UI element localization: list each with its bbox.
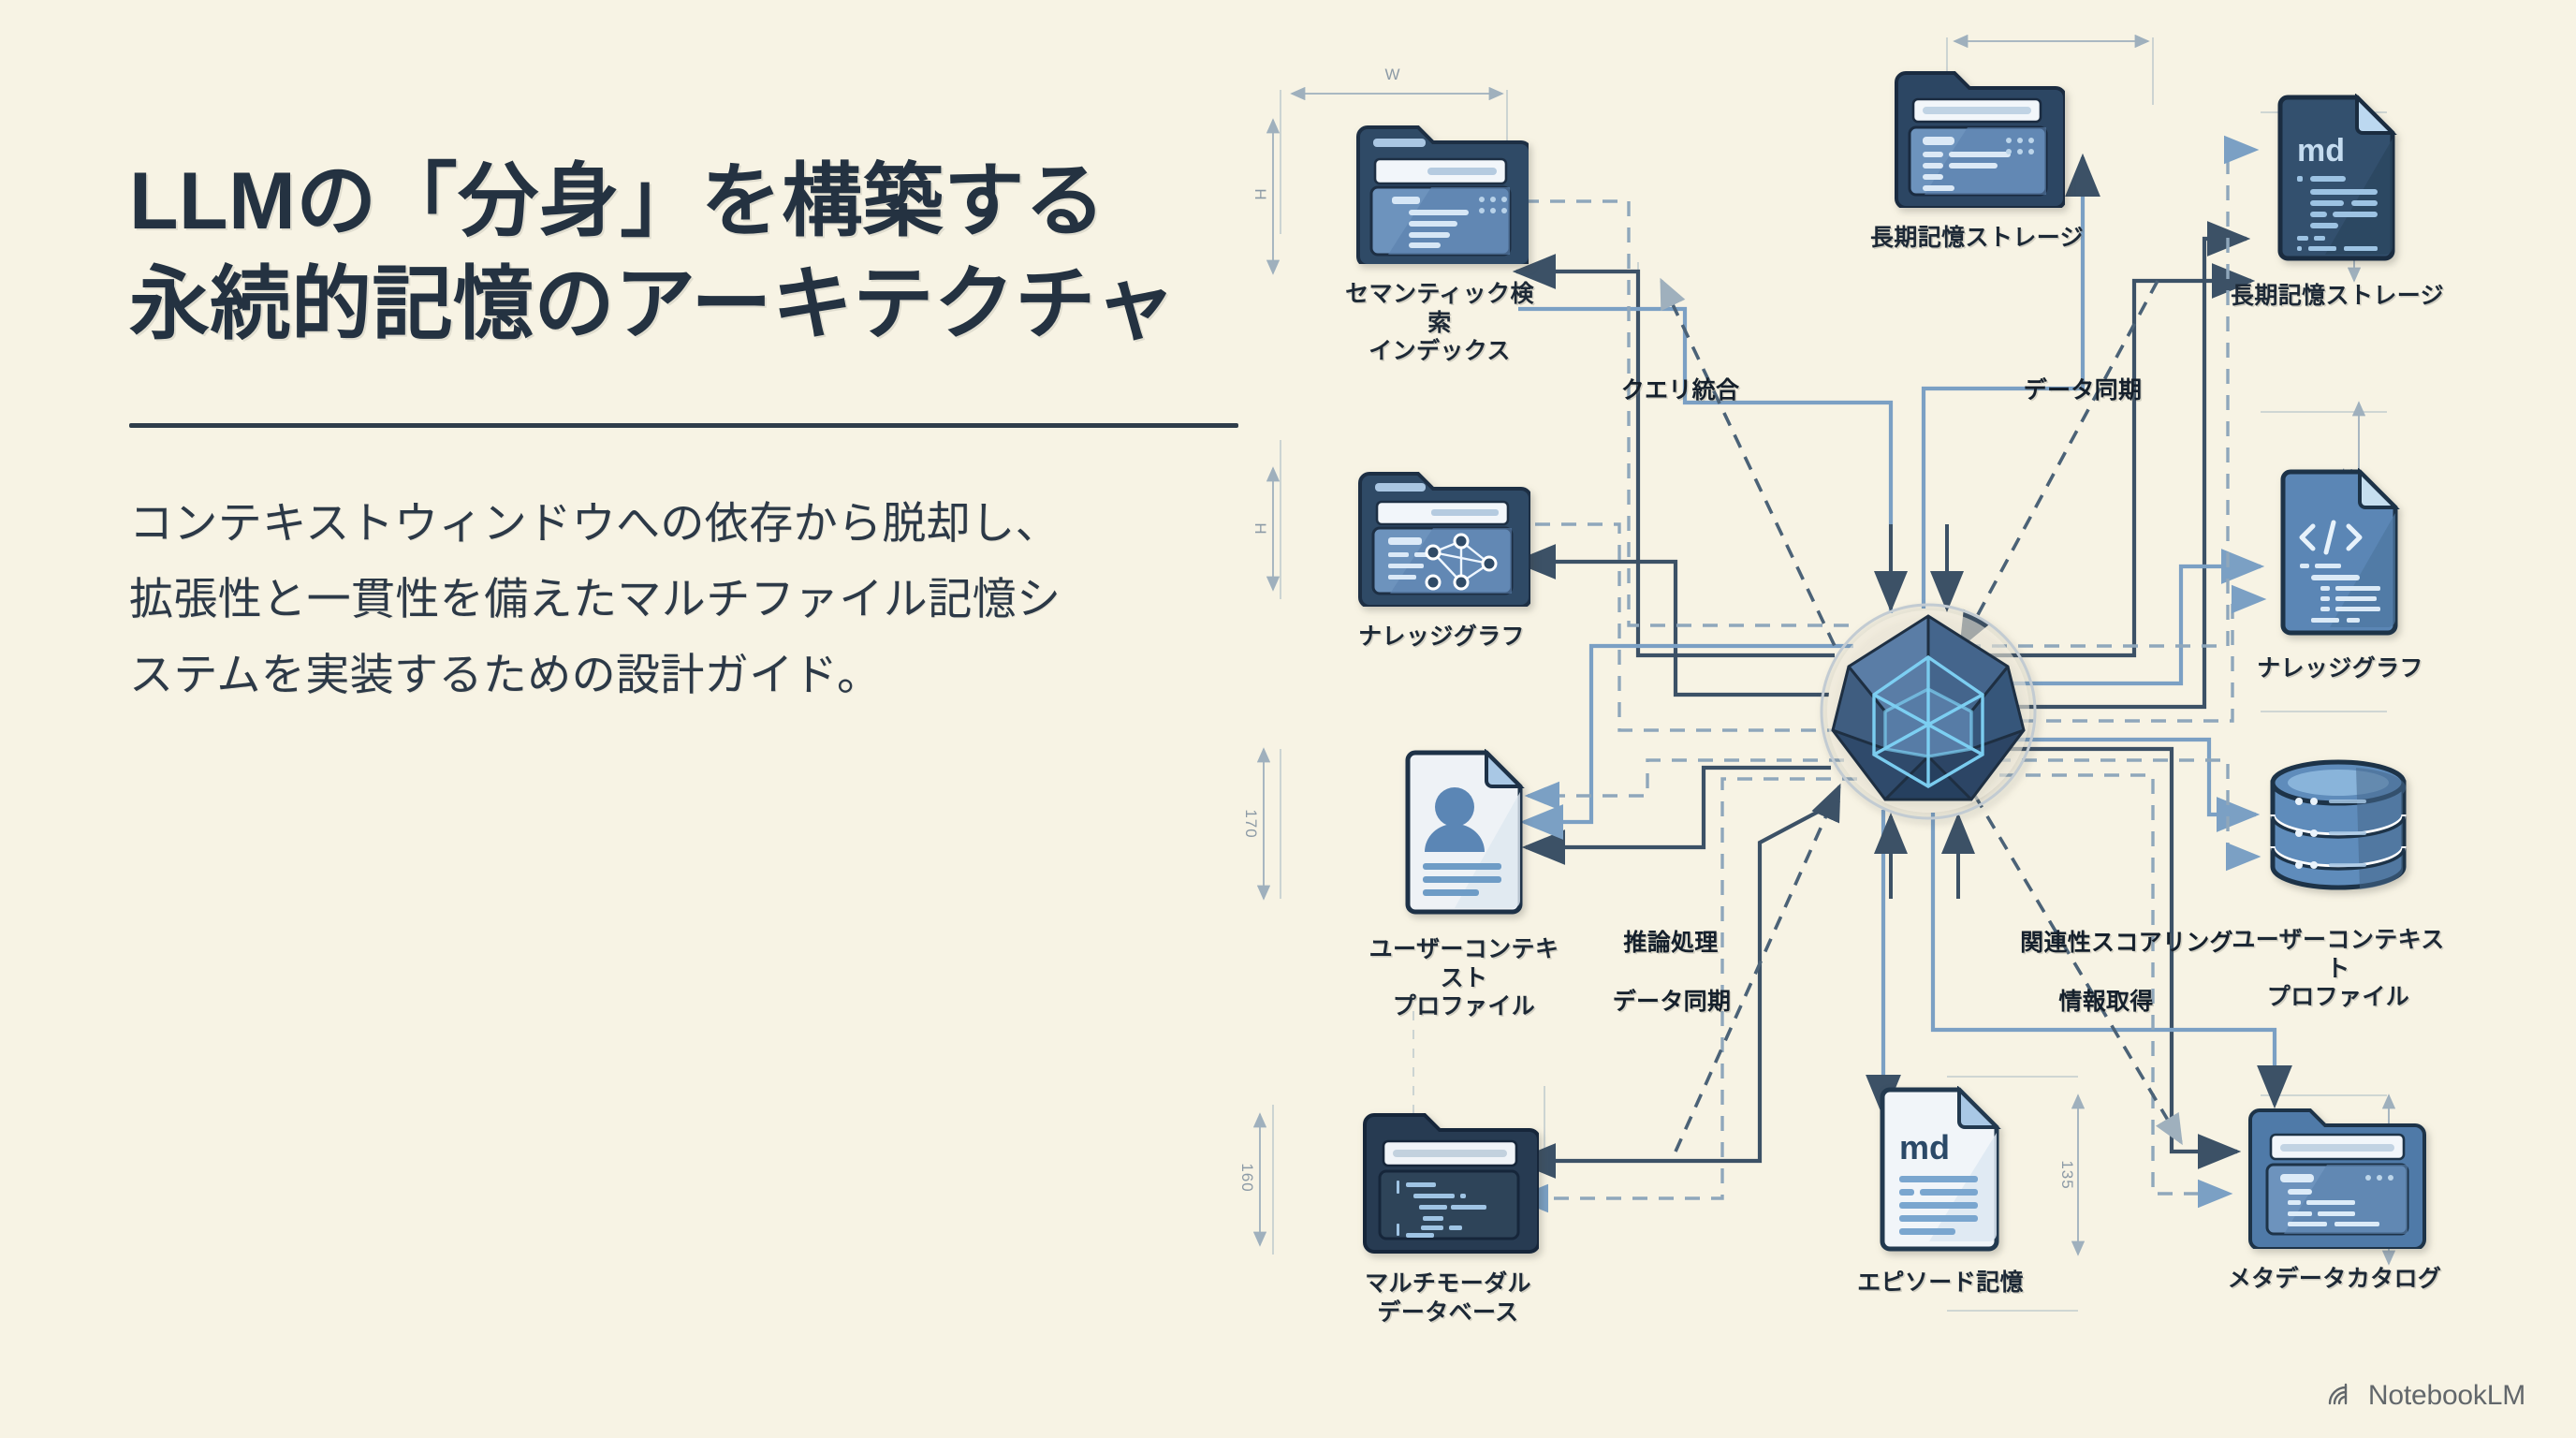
- slide-canvas: LLMの「分身」を構築する 永続的記憶のアーキテクチャ コンテキストウィンドウへ…: [0, 0, 2576, 1438]
- code-file-icon: [2276, 468, 2405, 643]
- node-long-term-storage-folder[interactable]: 長期記憶ストレージ: [1865, 58, 2089, 253]
- node-multimodal-database[interactable]: マルチモーダル データベース: [1340, 1100, 1556, 1327]
- dim-label-170: 170: [1241, 809, 1260, 838]
- watermark-label: NotebookLM: [2368, 1380, 2525, 1412]
- edge-label-query-integration: クエリ統合: [1621, 372, 1740, 405]
- node-metadata-catalog[interactable]: メタデータカタログ: [2220, 1093, 2449, 1294]
- node-long-term-storage-md[interactable]: md: [2230, 94, 2445, 311]
- node-label: エピソード記憶: [1857, 1269, 2024, 1298]
- dim-label-w: W: [1384, 66, 1400, 84]
- dim-label-135: 135: [2057, 1160, 2076, 1189]
- edge-label-relevance-scoring: 関連性スコアリング: [2020, 924, 2233, 958]
- dim-label-160a: 160: [1237, 1163, 1256, 1192]
- architecture-diagram: W H H 170 160 148 160 135 180: [1236, 0, 2576, 1438]
- node-label: ナレッジグラフ: [2257, 654, 2423, 683]
- node-label: ユーザーコンテキスト プロファイル: [2226, 926, 2451, 1012]
- md-file-dark-icon: md: [2273, 94, 2402, 271]
- folder-dark-code-icon: [1357, 1100, 1539, 1258]
- svg-text:md: md: [1899, 1128, 1950, 1167]
- person-document-icon: [1398, 749, 1529, 924]
- node-label: 長期記憶ストレージ: [1870, 224, 2084, 253]
- folder-lines-icon: [2243, 1093, 2426, 1254]
- node-user-context-database[interactable]: ユーザーコンテキスト プロファイル: [2226, 749, 2451, 1012]
- node-label: ナレッジグラフ: [1358, 623, 1525, 652]
- edge-label-data-sync-top: データ同期: [2024, 372, 2143, 405]
- node-label: セマンティック検索 インデックス: [1337, 280, 1543, 366]
- title-divider: [129, 423, 1238, 428]
- edge-label-information-retrieval: 情報取得: [2058, 983, 2153, 1017]
- node-label: マルチモーダル データベース: [1365, 1269, 1531, 1327]
- edge-label-data-sync-bottom: データ同期: [1613, 983, 1732, 1017]
- page-title: LLMの「分身」を構築する 永続的記憶のアーキテクチャ: [129, 150, 1281, 356]
- hero-text-panel: LLMの「分身」を構築する 永続的記憶のアーキテクチャ コンテキストウィンドウへ…: [129, 150, 1281, 713]
- database-icon: [2258, 749, 2419, 915]
- edge-label-inference-process: 推論処理: [1623, 924, 1718, 958]
- folder-graph-icon: [1353, 459, 1530, 611]
- notebooklm-watermark: NotebookLM: [2326, 1379, 2525, 1412]
- node-label: メタデータカタログ: [2228, 1265, 2442, 1294]
- node-episodic-memory[interactable]: md エピソード記憶: [1823, 1086, 2057, 1298]
- node-label: 長期記憶ストレージ: [2231, 282, 2444, 311]
- node-knowledge-graph-code[interactable]: ナレッジグラフ: [2235, 468, 2445, 683]
- notebooklm-spiral-icon: [2326, 1379, 2356, 1412]
- dim-label-h1: H: [1251, 188, 1269, 200]
- folder-lines-icon: [1351, 110, 1529, 269]
- svg-text:md: md: [2297, 133, 2345, 169]
- hero-subcopy: コンテキストウィンドウへの依存から脱却し、 拡張性と一貫性を備えたマルチファイル…: [129, 486, 1281, 712]
- icosahedron-icon: [1816, 599, 2041, 829]
- memory-core-hub[interactable]: [1816, 599, 2041, 829]
- node-user-context-profile-doc[interactable]: ユーザーコンテキスト プロファイル: [1361, 749, 1567, 1021]
- node-semantic-search-index[interactable]: セマンティック検索 インデックス: [1337, 110, 1543, 366]
- dim-label-h2: H: [1251, 522, 1269, 535]
- md-file-light-icon: md: [1875, 1086, 2006, 1257]
- folder-lines-icon: [1889, 58, 2065, 213]
- node-knowledge-graph-folder[interactable]: ナレッジグラフ: [1339, 459, 1544, 652]
- node-label: ユーザーコンテキスト プロファイル: [1361, 935, 1567, 1021]
